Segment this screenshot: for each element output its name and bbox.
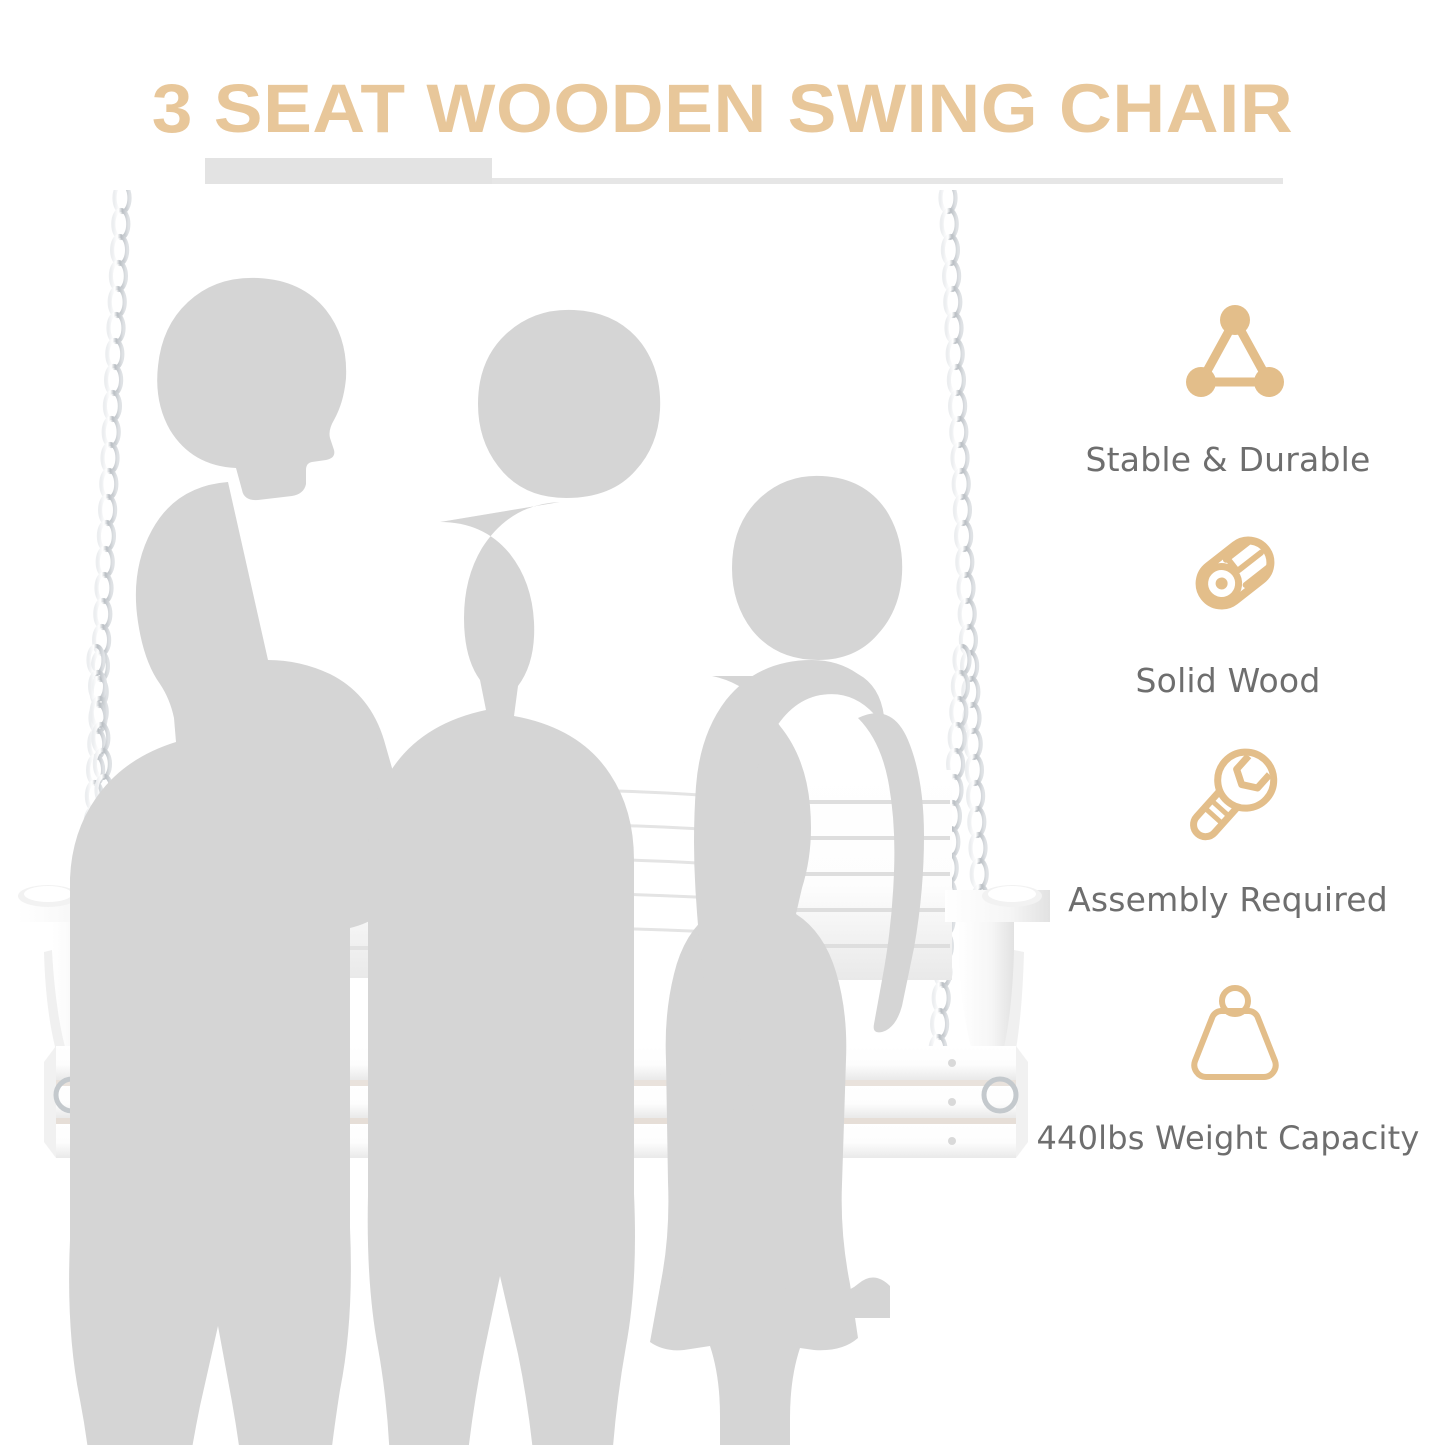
feature-label-weight-capacity: 440lbs Weight Capacity <box>1035 1119 1435 1157</box>
feature-item-solid-wood: Solid Wood <box>1035 521 1435 700</box>
feature-label-solid-wood: Solid Wood <box>1035 661 1435 700</box>
silhouette-adult-left <box>69 278 408 1445</box>
feature-label-assembly-required: Assembly Required <box>1035 880 1435 919</box>
page-title: 3 SEAT WOODEN SWING CHAIR <box>0 74 1445 143</box>
title-divider <box>205 158 1283 188</box>
product-image <box>0 190 1060 1445</box>
wood-log-icon <box>1035 521 1435 625</box>
triangle-nodes-icon <box>1035 300 1435 404</box>
divider-accent-block <box>205 158 492 184</box>
feature-item-stable-durable: Stable & Durable <box>1035 300 1435 479</box>
divider-line <box>492 178 1283 184</box>
feature-label-stable-durable: Stable & Durable <box>1035 440 1435 479</box>
feature-list: Stable & Durable <box>1035 300 1435 1185</box>
infographic-page: 3 SEAT WOODEN SWING CHAIR <box>0 0 1445 1445</box>
weight-icon <box>1035 979 1435 1083</box>
wrench-icon <box>1035 740 1435 844</box>
feature-item-weight-capacity: 440lbs Weight Capacity <box>1035 979 1435 1157</box>
silhouette-adult-center <box>368 310 660 1445</box>
feature-item-assembly-required: Assembly Required <box>1035 740 1435 919</box>
